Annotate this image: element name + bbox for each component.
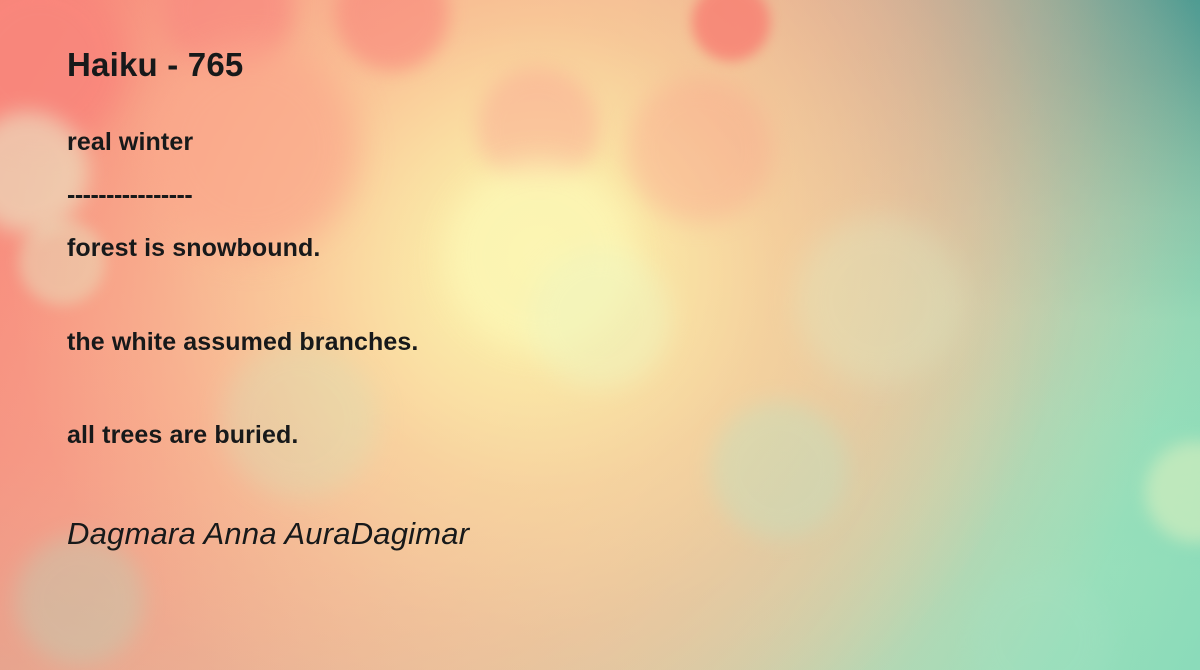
spacer	[67, 358, 1127, 420]
spacer	[67, 211, 1127, 233]
poem-line-2: forest is snowbound.	[67, 233, 1127, 264]
spacer	[67, 265, 1127, 327]
poem-line-3: the white assumed branches.	[67, 327, 1127, 358]
pale-disc-bottom-right-bokeh	[968, 568, 1112, 670]
poem-line-1: real winter	[67, 127, 1127, 158]
spacer	[67, 158, 1127, 180]
pale-disc-bottom-left-bokeh	[14, 534, 146, 666]
poem-line-4: all trees are buried.	[67, 420, 1127, 451]
poem-text-block: Haiku - 765 real winter ----------------…	[67, 46, 1127, 552]
poem-divider-line: ----------------	[67, 180, 1127, 211]
poem-image-card: Haiku - 765 real winter ----------------…	[0, 0, 1200, 670]
page-title: Haiku - 765	[67, 46, 1127, 85]
author-signature: Dagmara Anna AuraDagimar	[67, 515, 1127, 552]
spacer	[67, 451, 1127, 515]
pale-disc-far-right-bokeh	[1144, 440, 1200, 544]
